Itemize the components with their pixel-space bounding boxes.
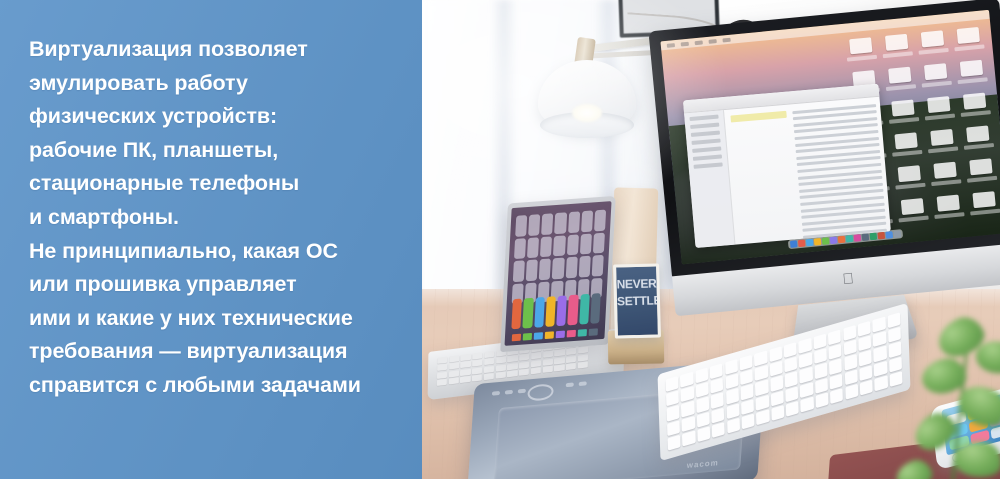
plant-leaf <box>893 456 936 479</box>
macbook-tray-icon <box>534 332 544 340</box>
desktop-icon <box>963 93 986 110</box>
text-panel: Виртуализация позволяет эмулировать рабо… <box>0 0 422 479</box>
macbook-key <box>496 357 506 364</box>
keyboard-key <box>845 384 858 400</box>
dock-icon <box>838 236 845 243</box>
macbook-tray-icon <box>512 334 522 342</box>
macbook-key <box>437 371 447 378</box>
macbook-key <box>437 379 447 386</box>
macbook-key <box>507 355 517 362</box>
macbook-key <box>542 366 552 373</box>
launchpad-app-icon <box>539 258 551 279</box>
macbook-key <box>449 377 459 384</box>
promo-banner: Виртуализация позволяет эмулировать рабо… <box>0 0 1000 479</box>
imac-screen <box>660 10 1000 265</box>
launchpad-app-icon <box>555 212 567 233</box>
keyboard-key <box>830 373 843 389</box>
launchpad-app-icon <box>513 260 525 281</box>
dock-icon <box>806 239 813 246</box>
macbook-key <box>472 367 482 374</box>
menu-item <box>722 37 730 42</box>
keyboard-key <box>697 411 710 427</box>
keyboard-key <box>829 359 842 375</box>
macbook-key <box>449 355 459 362</box>
macbook-key <box>566 363 576 370</box>
macbook-tray-icon <box>555 331 565 339</box>
launchpad-app-icon <box>580 233 592 254</box>
keyboard-key <box>681 386 694 402</box>
keyboard-key <box>711 393 724 409</box>
macbook-dock-icon <box>523 298 534 329</box>
macbook-tray-icon <box>544 331 554 339</box>
keyboard-key <box>801 396 814 412</box>
keyboard-key <box>858 321 871 337</box>
keyboard-key <box>741 413 754 429</box>
macbook-key <box>543 351 553 358</box>
finder-file-list <box>792 100 887 236</box>
green-plant <box>878 311 1000 479</box>
keyboard-key <box>681 401 694 417</box>
keyboard-key <box>680 372 693 388</box>
launchpad-app-icon <box>581 210 593 231</box>
launchpad-app-icon <box>527 237 539 258</box>
launchpad-app-icon <box>568 211 580 232</box>
keyboard-key <box>695 367 708 383</box>
dock-icon <box>878 232 885 239</box>
macbook-key <box>578 354 588 361</box>
keyboard-key <box>799 352 812 368</box>
keyboard-key <box>756 394 769 410</box>
macbook-key <box>519 369 529 376</box>
desktop-icon <box>891 100 914 117</box>
macbook-key <box>554 364 564 371</box>
keyboard-key <box>769 346 782 362</box>
macbook-key <box>460 376 470 383</box>
launchpad-app-icon <box>565 257 577 278</box>
macbook-screen <box>505 201 612 346</box>
keyboard-key <box>859 350 872 366</box>
keyboard-key <box>815 392 828 408</box>
macbook-laptop <box>428 200 628 390</box>
launchpad-dock <box>511 293 600 329</box>
keyboard-key <box>770 361 783 377</box>
desktop-icon <box>957 27 980 44</box>
launchpad-app-icon <box>566 234 578 255</box>
dock-icon <box>830 237 837 244</box>
wacom-touch-ring <box>527 383 554 401</box>
keyboard-key <box>756 409 769 425</box>
keyboard-key <box>740 369 753 385</box>
macbook-key <box>472 374 482 381</box>
dock-icon <box>885 231 892 238</box>
macbook-key <box>577 361 587 368</box>
keyboard-key <box>755 365 768 381</box>
macbook-key <box>496 364 506 371</box>
macbook-dock-icon <box>534 297 545 328</box>
macbook-key <box>507 370 517 377</box>
keyboard-key <box>785 386 798 402</box>
finder-window <box>683 84 891 248</box>
dock-icon <box>790 240 797 247</box>
keyboard-key <box>740 384 753 400</box>
macbook-key <box>449 370 459 377</box>
keyboard-key <box>697 426 710 442</box>
macbook-key <box>578 347 588 354</box>
keyboard-key <box>739 355 752 371</box>
launchpad-app-icon <box>540 236 552 257</box>
macbook-tray-icon <box>523 333 533 341</box>
macbook-key <box>461 354 471 361</box>
finder-sidebar-row <box>692 146 721 152</box>
desktop-icon <box>897 165 920 182</box>
macbook-key <box>437 357 447 364</box>
keyboard-key <box>712 422 725 438</box>
launchpad-app-icon <box>514 238 526 259</box>
keyboard-key <box>858 335 871 351</box>
launchpad-app-icon <box>594 210 606 231</box>
finder-sidebar-row <box>693 154 722 160</box>
keyboard-key <box>813 334 826 350</box>
keyboard-key <box>770 376 783 392</box>
keyboard-key <box>814 348 827 364</box>
launchpad-app-icon <box>515 215 527 236</box>
macbook-key <box>472 352 482 359</box>
macbook-dock-icon <box>556 295 567 326</box>
menu-item <box>695 40 703 45</box>
launchpad-app-icon <box>592 255 604 276</box>
dock-icon <box>893 230 900 237</box>
keyboard-key <box>800 367 813 383</box>
macbook-dock-icon <box>590 293 601 324</box>
keyboard-key <box>741 399 754 415</box>
keyboard-key <box>666 391 679 407</box>
macbook-key <box>449 363 459 370</box>
keyboard-key <box>771 390 784 406</box>
desktop-icon <box>927 96 950 113</box>
finder-sidebar-row <box>689 115 718 121</box>
macbook-dock-icon <box>545 296 556 327</box>
macbook-key <box>519 361 529 368</box>
macbook-key <box>484 373 494 380</box>
macbook-key <box>484 366 494 373</box>
keyboard-key <box>710 378 723 394</box>
launchpad-app-icon <box>593 232 605 253</box>
macbook-tray-icon <box>566 330 576 338</box>
desktop-icon <box>849 37 872 54</box>
menu-item <box>667 43 675 48</box>
keyboard-key <box>667 420 680 436</box>
plant-leaf <box>951 437 1000 479</box>
keyboard-key <box>785 371 798 387</box>
keyboard-key <box>800 382 813 398</box>
launchpad-app-icon <box>528 214 540 235</box>
finder-sidebar-row <box>691 131 720 137</box>
keyboard-key <box>727 418 740 434</box>
macbook-key <box>554 350 564 357</box>
desktop-icon <box>921 30 944 47</box>
macbook-key <box>484 351 494 358</box>
keyboard-key <box>859 365 872 381</box>
keyboard-key <box>682 430 695 446</box>
lamp-bulb <box>572 104 602 122</box>
finder-sidebar-row <box>690 123 719 129</box>
finder-sidebar-row <box>691 138 720 144</box>
desktop-icon <box>924 63 947 80</box>
macbook-key <box>460 368 470 375</box>
imac-computer:  <box>648 0 1000 330</box>
macbook-lid <box>500 196 616 352</box>
keyboard-key <box>844 354 857 370</box>
finder-highlight-row <box>730 111 786 123</box>
keyboard-key <box>844 369 857 385</box>
keyboard-key <box>682 416 695 432</box>
wacom-express-keys <box>492 389 526 396</box>
finder-sidebar-row <box>694 162 723 168</box>
desktop-icon <box>930 129 953 146</box>
keyboard-key <box>665 376 678 392</box>
plant-leaf <box>909 407 962 457</box>
keyboard-key <box>771 405 784 421</box>
macbook-key <box>531 352 541 359</box>
macbook-key <box>566 355 576 362</box>
desktop-icon <box>894 132 917 149</box>
keyboard-key <box>815 378 828 394</box>
macbook-key <box>461 361 471 368</box>
apple-logo-icon:  <box>842 271 856 288</box>
keyboard-key <box>814 363 827 379</box>
macbook-key <box>495 372 505 379</box>
menu-item <box>708 39 716 44</box>
launchpad-app-icon <box>541 213 553 234</box>
desktop-icon <box>966 125 989 142</box>
launchpad-icon-grid <box>512 210 606 305</box>
workspace-photo:  OFF NEVER SETTLE <box>422 0 1000 479</box>
keyboard-key <box>860 379 873 395</box>
never-settle-card: NEVER SETTLE <box>613 263 661 338</box>
macbook-tray-icon <box>588 328 598 336</box>
macbook-dock-icon <box>579 294 590 325</box>
keyboard-key <box>828 329 841 345</box>
keyboard-key <box>711 407 724 423</box>
macbook-key <box>566 348 576 355</box>
keyboard-key <box>725 359 738 375</box>
keyboard-key <box>799 338 812 354</box>
desktop-icon <box>885 34 908 51</box>
keyboard-key <box>843 340 856 356</box>
keyboard-key <box>725 374 738 390</box>
macbook-key <box>437 364 447 371</box>
macbook-key <box>472 360 482 367</box>
desktop-icon <box>960 60 983 77</box>
dock-icon <box>862 233 869 240</box>
launchpad-app-icon <box>526 259 538 280</box>
wacom-express-keys-right <box>566 381 587 387</box>
desktop-icon <box>937 195 960 212</box>
macbook-key <box>554 357 564 364</box>
macbook-dock-icon <box>511 299 522 330</box>
keyboard-key <box>830 388 843 404</box>
keyboard-key <box>755 380 768 396</box>
keyboard-key <box>784 357 797 373</box>
macbook-key <box>484 358 494 365</box>
launchpad-app-icon <box>578 256 590 277</box>
dock-icon <box>854 234 861 241</box>
card-text: NEVER SETTLE <box>616 275 657 310</box>
keyboard-key <box>666 405 679 421</box>
launchpad-app-icon <box>553 235 565 256</box>
keyboard-key <box>668 435 681 451</box>
macbook-dock-strip <box>512 328 598 341</box>
macbook-key <box>507 363 517 370</box>
launchpad-app-icon <box>552 258 564 279</box>
desktop-icon <box>934 162 957 179</box>
desktop-icon <box>888 67 911 84</box>
keyboard-key <box>843 325 856 341</box>
dock-icon <box>798 240 805 247</box>
macbook-key <box>519 354 529 361</box>
imac-bezel <box>648 0 1000 278</box>
keyboard-key <box>829 344 842 360</box>
keyboard-key <box>786 401 799 417</box>
dock-icon <box>822 237 829 244</box>
dock-icon <box>870 233 877 240</box>
dock-icon <box>814 238 821 245</box>
keyboard-key <box>784 342 797 358</box>
macbook-key <box>531 367 541 374</box>
desktop-icon <box>973 191 996 208</box>
menu-item <box>681 41 689 46</box>
macbook-key <box>531 360 541 367</box>
headline-text: Виртуализация позволяет эмулировать рабо… <box>29 33 407 403</box>
keyboard-key <box>754 350 767 366</box>
keyboard-key <box>726 403 739 419</box>
keyboard-key <box>726 388 739 404</box>
macbook-dock-icon <box>568 295 579 326</box>
desktop-icon <box>901 198 924 215</box>
keyboard-key <box>696 397 709 413</box>
keyboard-key <box>710 363 723 379</box>
keyboard-key <box>696 382 709 398</box>
dock-icon <box>846 235 853 242</box>
macbook-tray-icon <box>577 329 587 337</box>
desktop-icon <box>970 158 993 175</box>
macbook-key <box>542 358 552 365</box>
